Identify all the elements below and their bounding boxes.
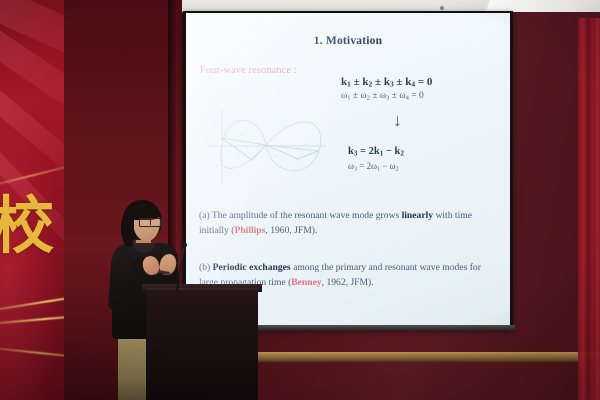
red-curtain	[578, 18, 600, 400]
slide-content: 1. Motivation Four-wave resonance :	[186, 13, 510, 325]
slide-point-a: (a) The amplitude of the resonant wave m…	[199, 209, 499, 239]
svg-text:1: 1	[224, 112, 226, 116]
lecture-hall-photo: 校 1. Motivation Four-wave resonance :	[0, 0, 600, 400]
glasses-bridge	[150, 218, 151, 225]
point-b-emphasis: Periodic exchanges	[213, 262, 291, 273]
point-b-citation-tail: , 1962, JFM).	[322, 277, 374, 288]
equation-wavevector-result: k3 = 2k1 − k2	[348, 146, 404, 158]
point-a-text-before: The amplitude of the resonant wave mode …	[212, 210, 399, 221]
svg-text:k2: k2	[236, 150, 240, 154]
point-b-marker: (b)	[199, 262, 210, 273]
microphone-icon	[181, 242, 187, 248]
speaker-legs	[118, 330, 148, 400]
equation-wavevector-sum: k1 ± k2 ± k3 ± k4 = 0	[341, 76, 432, 89]
slide-section-label: Four-wave resonance :	[200, 65, 297, 76]
svg-text:k1: k1	[240, 133, 244, 137]
point-b-citation: Benney	[291, 277, 321, 288]
banner-character: 校	[0, 195, 52, 257]
svg-text:k4: k4	[304, 143, 308, 147]
banner-gold-streak	[0, 311, 64, 326]
equation-frequency-sum: ω1 ± ω2 ± ω3 ± ω4 = 0	[341, 91, 424, 101]
svg-text:-1: -1	[214, 164, 217, 168]
equation-frequency-result: ω3 = 2ω1 − ω2	[348, 161, 399, 172]
red-banner: 校	[0, 0, 64, 400]
svg-text:k3: k3	[274, 154, 278, 158]
projection-screen: 1. Motivation Four-wave resonance :	[186, 13, 510, 325]
point-a-emphasis: linearly	[402, 210, 433, 221]
resonance-curve-figure: k1 k2 k3 k4 -1 1	[200, 105, 330, 187]
banner-gold-streak	[0, 287, 64, 314]
slide-title: 1. Motivation	[186, 35, 510, 47]
speaker-hair-side	[121, 212, 134, 246]
podium	[146, 288, 258, 400]
point-a-citation: Phillips	[234, 225, 265, 236]
banner-gold-streak	[0, 345, 64, 362]
ceiling-sensor-icon	[440, 6, 444, 10]
point-a-marker: (a)	[199, 210, 210, 221]
arrow-down-icon: ↓	[393, 111, 402, 129]
point-a-citation-tail: , 1960, JFM).	[265, 225, 317, 236]
